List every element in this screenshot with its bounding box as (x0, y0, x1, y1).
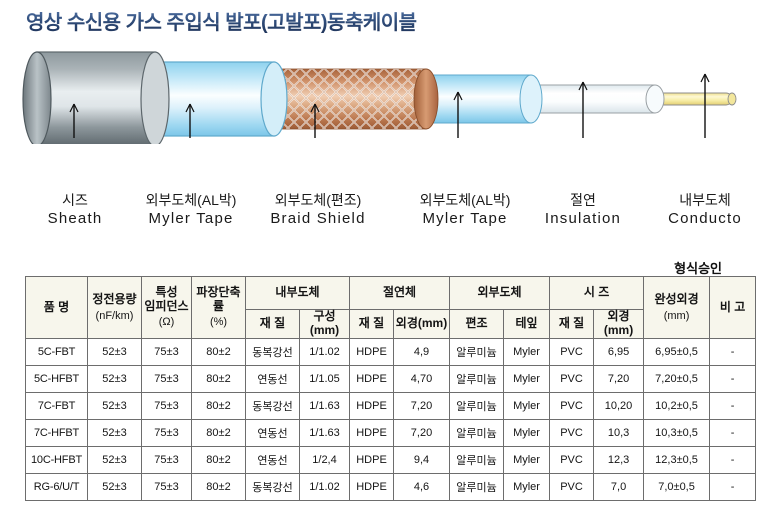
cell-capacitance: 52±3 (88, 339, 142, 366)
cell-overall-diameter: 7,20±0,5 (644, 366, 710, 393)
callout-braid-shield: 외부도체(편조) Braid Shield (248, 192, 388, 228)
cell-velocity-factor: 80±2 (192, 474, 246, 501)
callout-label-en: Sheath (30, 210, 120, 229)
cell-inner-config: 1/1.63 (300, 420, 350, 447)
th-group-insulation: 절연체 (350, 277, 450, 310)
layer-myler-inner (421, 75, 542, 123)
th-impedance: 특성 임피던스 (Ω) (142, 277, 192, 339)
cell-remark: - (710, 339, 756, 366)
cell-capacitance: 52±3 (88, 420, 142, 447)
table-row: 7C-FBT52±375±380±2동복강선1/1.63HDPE7,20알루미늄… (26, 393, 756, 420)
cell-outer-tape: Myler (504, 366, 550, 393)
cell-impedance: 75±3 (142, 474, 192, 501)
cell-product-name: 5C-FBT (26, 339, 88, 366)
callout-conductor: 내부도체 Conducto (646, 192, 764, 228)
th-capacitance-unit: (nF/km) (88, 310, 141, 323)
cell-insulation-od: 4,6 (394, 474, 450, 501)
cell-outer-braid: 알루미늄 (450, 339, 504, 366)
cell-sheath-material: PVC (550, 420, 594, 447)
callout-myler-tape-outer: 외부도체(AL박) Myler Tape (118, 192, 264, 228)
th-overall-diameter: 완성외경 (mm) (644, 277, 710, 339)
th-sheath-material: 재 질 (550, 310, 594, 339)
cell-insulation-material: HDPE (350, 447, 394, 474)
cell-insulation-od: 7,20 (394, 393, 450, 420)
th-product-name: 품 명 (26, 277, 88, 339)
cell-outer-tape: Myler (504, 420, 550, 447)
th-inner-config: 구성(mm) (300, 310, 350, 339)
cell-velocity-factor: 80±2 (192, 393, 246, 420)
cell-insulation-od: 4,70 (394, 366, 450, 393)
cell-insulation-od: 9,4 (394, 447, 450, 474)
cell-sheath-material: PVC (550, 393, 594, 420)
cell-inner-config: 1/1.02 (300, 474, 350, 501)
coaxial-cable-diagram (0, 44, 774, 144)
table-row: RG-6/U/T52±375±380±2동복강선1/1.02HDPE4,6알루미… (26, 474, 756, 501)
cell-impedance: 75±3 (142, 447, 192, 474)
th-velocity-unit: (%) (192, 316, 245, 329)
cell-product-name: 7C-HFBT (26, 420, 88, 447)
cell-insulation-material: HDPE (350, 393, 394, 420)
cell-inner-material: 연동선 (246, 366, 300, 393)
th-outer-braid: 편조 (450, 310, 504, 339)
callout-label-ko: 내부도체 (646, 192, 764, 210)
cell-outer-tape: Myler (504, 339, 550, 366)
cell-remark: - (710, 420, 756, 447)
th-impedance-label-1: 특성 (155, 285, 177, 299)
callout-label-en: Braid Shield (248, 210, 388, 229)
cell-remark: - (710, 474, 756, 501)
layer-insulation (523, 85, 664, 113)
table-head: 품 명 정전용량 (nF/km) 특성 임피던스 (Ω) 파장단축률 (%) 내 (26, 277, 756, 339)
cell-outer-braid: 알루미늄 (450, 366, 504, 393)
page-title: 영상 수신용 가스 주입식 발포(고발포)동축케이블 (26, 6, 417, 35)
spec-table-wrapper: 품 명 정전용량 (nF/km) 특성 임피던스 (Ω) 파장단축률 (%) 내 (25, 276, 723, 501)
cell-impedance: 75±3 (142, 366, 192, 393)
cell-sheath-od: 12,3 (594, 447, 644, 474)
cell-sheath-od: 7,20 (594, 366, 644, 393)
cell-insulation-material: HDPE (350, 366, 394, 393)
cell-capacitance: 52±3 (88, 447, 142, 474)
th-group-inner-conductor: 내부도체 (246, 277, 350, 310)
cell-inner-material: 연동선 (246, 447, 300, 474)
cell-insulation-od: 4,9 (394, 339, 450, 366)
callout-label-ko: 외부도체(AL박) (392, 192, 538, 210)
cell-sheath-od: 7,0 (594, 474, 644, 501)
cell-overall-diameter: 6,95±0,5 (644, 339, 710, 366)
cell-capacitance: 52±3 (88, 366, 142, 393)
cell-insulation-material: HDPE (350, 420, 394, 447)
callout-label-ko: 절연 (527, 192, 639, 210)
cell-product-name: 5C-HFBT (26, 366, 88, 393)
cell-sheath-material: PVC (550, 366, 594, 393)
cell-capacitance: 52±3 (88, 393, 142, 420)
cell-overall-diameter: 7,0±0,5 (644, 474, 710, 501)
cell-outer-braid: 알루미늄 (450, 447, 504, 474)
th-overall-label: 완성외경 (654, 292, 698, 306)
callout-myler-tape-inner: 외부도체(AL박) Myler Tape (392, 192, 538, 228)
cell-insulation-material: HDPE (350, 339, 394, 366)
layer-braid-shield (268, 69, 438, 129)
cell-outer-tape: Myler (504, 474, 550, 501)
cell-inner-material: 동복강선 (246, 393, 300, 420)
callout-label-ko: 외부도체(편조) (248, 192, 388, 210)
cell-sheath-od: 10,3 (594, 420, 644, 447)
cell-outer-braid: 알루미늄 (450, 474, 504, 501)
header-row-top: 품 명 정전용량 (nF/km) 특성 임피던스 (Ω) 파장단축률 (%) 내 (26, 277, 756, 310)
cell-inner-config: 1/1.02 (300, 339, 350, 366)
cell-velocity-factor: 80±2 (192, 366, 246, 393)
approval-note: 형식승인 (674, 258, 722, 277)
cell-sheath-material: PVC (550, 474, 594, 501)
cell-outer-braid: 알루미늄 (450, 393, 504, 420)
th-insulation-od: 외경(mm) (394, 310, 450, 339)
th-velocity-label: 파장단축률 (196, 285, 240, 313)
th-impedance-label-2: 임피던스 (144, 299, 188, 313)
callout-label-en: Myler Tape (118, 210, 264, 229)
table-row: 5C-FBT52±375±380±2동복강선1/1.02HDPE4,9알루미늄M… (26, 339, 756, 366)
cell-remark: - (710, 393, 756, 420)
cable-spec-table: 품 명 정전용량 (nF/km) 특성 임피던스 (Ω) 파장단축률 (%) 내 (25, 276, 756, 501)
cell-product-name: 7C-FBT (26, 393, 88, 420)
cell-product-name: RG-6/U/T (26, 474, 88, 501)
th-overall-unit: (mm) (644, 310, 709, 323)
cell-velocity-factor: 80±2 (192, 420, 246, 447)
callout-label-en: Conducto (646, 210, 764, 229)
callout-insulation: 절연 Insulation (527, 192, 639, 228)
cell-velocity-factor: 80±2 (192, 339, 246, 366)
callout-label-ko: 시즈 (30, 192, 120, 210)
callout-label-en: Myler Tape (392, 210, 538, 229)
cell-sheath-od: 10,20 (594, 393, 644, 420)
layer-sheath (23, 52, 169, 144)
page-root: 영상 수신용 가스 주입식 발포(고발포)동축케이블 (0, 0, 774, 522)
th-capacitance-label: 정전용량 (92, 292, 136, 306)
callout-label-en: Insulation (527, 210, 639, 229)
cell-capacitance: 52±3 (88, 474, 142, 501)
cell-product-name: 10C-HFBT (26, 447, 88, 474)
cell-impedance: 75±3 (142, 393, 192, 420)
cell-insulation-material: HDPE (350, 474, 394, 501)
cell-sheath-material: PVC (550, 339, 594, 366)
cell-inner-material: 동복강선 (246, 339, 300, 366)
th-capacitance: 정전용량 (nF/km) (88, 277, 142, 339)
cell-overall-diameter: 10,3±0,5 (644, 420, 710, 447)
cell-sheath-material: PVC (550, 447, 594, 474)
cell-sheath-od: 6,95 (594, 339, 644, 366)
table-row: 7C-HFBT52±375±380±2연동선1/1.63HDPE7,20알루미늄… (26, 420, 756, 447)
cell-inner-config: 1/2,4 (300, 447, 350, 474)
table-row: 10C-HFBT52±375±380±2연동선1/2,4HDPE9,4알루미늄M… (26, 447, 756, 474)
cell-outer-braid: 알루미늄 (450, 420, 504, 447)
cell-inner-material: 연동선 (246, 420, 300, 447)
cell-impedance: 75±3 (142, 420, 192, 447)
cell-inner-config: 1/1.05 (300, 366, 350, 393)
cell-impedance: 75±3 (142, 339, 192, 366)
cell-outer-tape: Myler (504, 393, 550, 420)
cell-velocity-factor: 80±2 (192, 447, 246, 474)
cell-overall-diameter: 10,2±0,5 (644, 393, 710, 420)
cell-overall-diameter: 12,3±0,5 (644, 447, 710, 474)
cell-inner-material: 동복강선 (246, 474, 300, 501)
callout-label-ko: 외부도체(AL박) (118, 192, 264, 210)
cell-insulation-od: 7,20 (394, 420, 450, 447)
th-outer-tape: 테잎 (504, 310, 550, 339)
th-impedance-unit: (Ω) (142, 316, 191, 329)
cell-outer-tape: Myler (504, 447, 550, 474)
th-group-outer-conductor: 외부도체 (450, 277, 550, 310)
cell-inner-config: 1/1.63 (300, 393, 350, 420)
table-row: 5C-HFBT52±375±380±2연동선1/1.05HDPE4,70알루미늄… (26, 366, 756, 393)
th-sheath-od: 외경(mm) (594, 310, 644, 339)
table-body: 5C-FBT52±375±380±2동복강선1/1.02HDPE4,9알루미늄M… (26, 339, 756, 501)
th-remark: 비 고 (710, 277, 756, 339)
th-insulation-material: 재 질 (350, 310, 394, 339)
th-velocity-factor: 파장단축률 (%) (192, 277, 246, 339)
cell-remark: - (710, 366, 756, 393)
callout-sheath: 시즈 Sheath (30, 192, 120, 228)
cell-remark: - (710, 447, 756, 474)
th-group-sheath: 시 즈 (550, 277, 644, 310)
th-inner-material: 재 질 (246, 310, 300, 339)
